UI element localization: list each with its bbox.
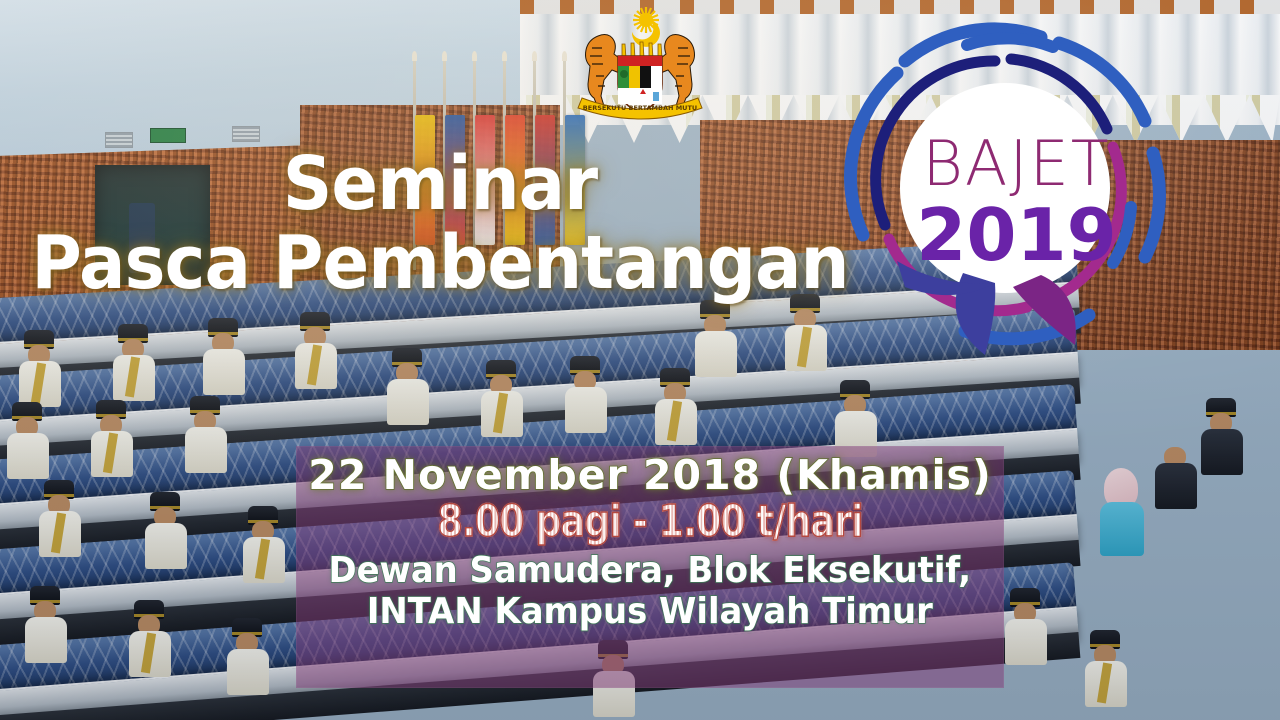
exit-sign-icon xyxy=(150,128,186,143)
event-venue-line-2: INTAN Kampus Wilayah Timur xyxy=(329,592,972,632)
headline-line-2: Pasca Pembentangan xyxy=(31,227,849,300)
event-venue-line-1: Dewan Samudera, Blok Eksekutif, xyxy=(329,551,972,591)
event-details-box: 22 November 2018 (Khamis) 8.00 pagi - 1.… xyxy=(296,446,1004,688)
page-title: Seminar Pasca Pembentangan xyxy=(0,148,880,299)
event-date: 22 November 2018 (Khamis) xyxy=(308,454,991,497)
event-venue: Dewan Samudera, Blok Eksekutif, INTAN Ka… xyxy=(329,551,972,632)
malaysia-coat-of-arms-icon: BERSEKUTU BERTAMBAH MUTU xyxy=(560,2,720,137)
headline-line-1: Seminar xyxy=(31,148,849,221)
poster-canvas: BERSEKUTU BERTAMBAH MUTU Seminar Pasca P… xyxy=(0,0,1280,720)
wall-vent-icon xyxy=(232,126,260,142)
wall-vent-icon xyxy=(105,132,133,148)
bajet-2019-logo: BAJET 2019 xyxy=(845,25,1180,365)
event-time: 8.00 pagi - 1.00 t/hari xyxy=(437,499,862,545)
coat-of-arms-motto: BERSEKUTU BERTAMBAH MUTU xyxy=(583,104,697,112)
